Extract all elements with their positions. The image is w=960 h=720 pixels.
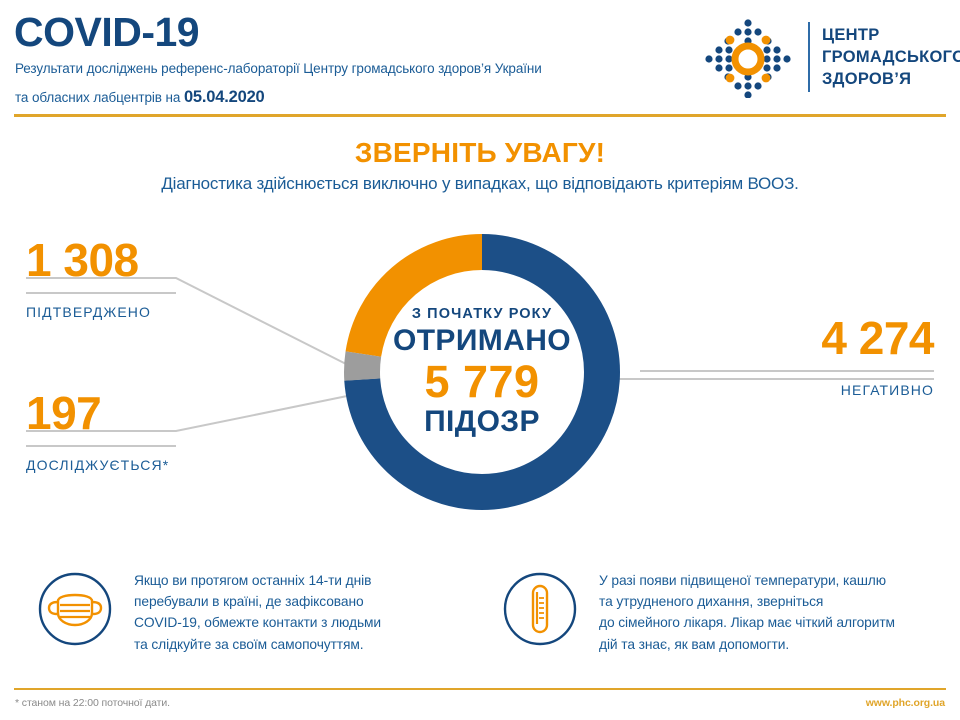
stat-negative: 4 274 НЕГАТИВНО bbox=[640, 315, 934, 397]
header-subtitle-line2: та обласних лабцентрів на 05.04.2020 bbox=[15, 88, 265, 107]
header-divider bbox=[14, 114, 946, 117]
advice-line: Якщо ви протягом останніх 14-ти днів bbox=[134, 570, 381, 591]
phc-logo: ЦЕНТР ГРОМАДСЬКОГО ЗДОРОВ’Я bbox=[700, 16, 950, 98]
header-subtitle-line1: Результати досліджень референс-лаборатор… bbox=[15, 61, 542, 76]
advice-card-symptoms-text: У разі появи підвищеної температури, каш… bbox=[599, 568, 895, 655]
advice-line: та слідкуйте за своїм самопочуттям. bbox=[134, 634, 381, 655]
advice-line: У разі появи підвищеної температури, каш… bbox=[599, 570, 895, 591]
advice-line: перебували в країні, де зафіксовано bbox=[134, 591, 381, 612]
stat-confirmed-rule bbox=[26, 292, 176, 294]
attention-subtitle: Діагностика здійснюється виключно у випа… bbox=[0, 174, 960, 194]
stat-investigated: 197 ДОСЛІДЖУЄТЬСЯ* bbox=[26, 390, 326, 472]
logo-text-line2: ГРОМАДСЬКОГО bbox=[822, 46, 960, 68]
footer-note: * станом на 22:00 поточної дати. bbox=[15, 697, 170, 709]
page-header: COVID-19 Результати досліджень референс-… bbox=[0, 0, 960, 112]
advice-card-travel: Якщо ви протягом останніх 14-ти днів пер… bbox=[38, 568, 458, 655]
advice-card-travel-text: Якщо ви протягом останніх 14-ти днів пер… bbox=[134, 568, 381, 655]
stat-confirmed: 1 308 ПІДТВЕРДЖЕНО bbox=[26, 237, 326, 319]
header-subtitle-prefix: та обласних лабцентрів на bbox=[15, 90, 184, 105]
stat-investigated-value: 197 bbox=[26, 390, 326, 436]
stat-negative-value: 4 274 bbox=[640, 315, 934, 361]
suspicion-donut-chart bbox=[338, 228, 626, 516]
page-title: COVID-19 bbox=[14, 12, 199, 53]
report-date: 05.04.2020 bbox=[184, 88, 265, 106]
thermometer-icon bbox=[503, 572, 577, 646]
statistics-chart-area: З ПОЧАТКУ РОКУ ОТРИМАНО 5 779 ПІДОЗР 1 3… bbox=[0, 205, 960, 535]
stat-investigated-label: ДОСЛІДЖУЄТЬСЯ* bbox=[26, 458, 326, 472]
phc-dot-diamond-logo-icon bbox=[700, 16, 796, 98]
attention-banner: ЗВЕРНІТЬ УВАГУ! Діагностика здійснюється… bbox=[0, 138, 960, 194]
advice-line: дій та знає, як вам допомогти. bbox=[599, 634, 895, 655]
page-footer: * станом на 22:00 поточної дати. www.phc… bbox=[0, 688, 960, 720]
logo-divider bbox=[808, 22, 810, 92]
stat-investigated-rule bbox=[26, 445, 176, 447]
logo-text-line3: ЗДОРОВ’Я bbox=[822, 68, 960, 90]
advice-line: COVID-19, обмежте контакти з людьми bbox=[134, 612, 381, 633]
footer-url[interactable]: www.phc.org.ua bbox=[866, 697, 945, 709]
logo-text-line1: ЦЕНТР bbox=[822, 24, 960, 46]
footer-divider bbox=[14, 688, 946, 690]
advice-card-symptoms: У разі появи підвищеної температури, каш… bbox=[503, 568, 923, 655]
advice-line: та утрудненого дихання, зверніться bbox=[599, 591, 895, 612]
attention-title: ЗВЕРНІТЬ УВАГУ! bbox=[0, 138, 960, 167]
advice-line: до сімейного лікаря. Лікар має чіткий ал… bbox=[599, 612, 895, 633]
stat-negative-label: НЕГАТИВНО bbox=[640, 383, 934, 397]
face-mask-icon bbox=[38, 572, 112, 646]
advice-section: Якщо ви протягом останніх 14-ти днів пер… bbox=[0, 560, 960, 680]
stat-negative-rule bbox=[640, 370, 934, 372]
stat-confirmed-value: 1 308 bbox=[26, 237, 326, 283]
logo-text: ЦЕНТР ГРОМАДСЬКОГО ЗДОРОВ’Я bbox=[822, 24, 960, 90]
stat-confirmed-label: ПІДТВЕРДЖЕНО bbox=[26, 305, 326, 319]
